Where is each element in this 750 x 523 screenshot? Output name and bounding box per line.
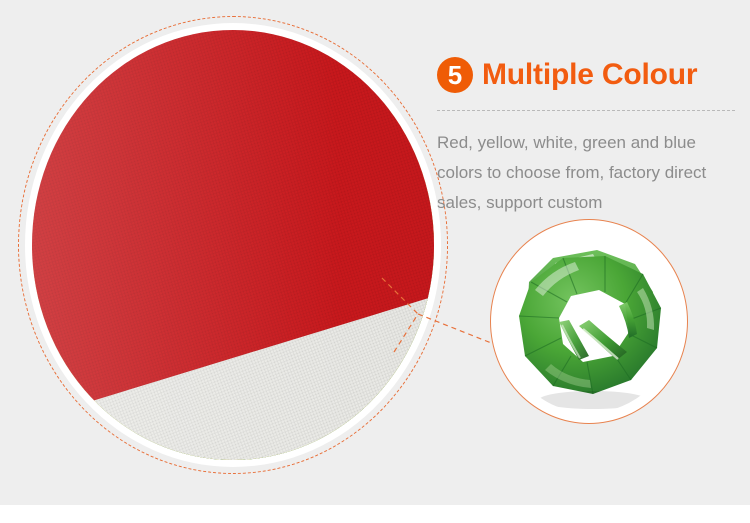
bottom-white-strip (0, 505, 750, 523)
main-product-photo (18, 16, 448, 474)
tarpaulin-sheets-photo (32, 30, 434, 460)
page-title: Multiple Colour (482, 58, 697, 92)
green-inflatable-roller-photo (501, 230, 677, 413)
feature-banner: 5 Multiple Colour Red, yellow, white, gr… (0, 0, 750, 523)
headline-row: 5 Multiple Colour (437, 52, 737, 98)
step-number-badge: 5 (437, 57, 473, 93)
info-panel: 5 Multiple Colour Red, yellow, white, gr… (437, 52, 737, 218)
inflatable-roller-illustration (501, 230, 677, 413)
callout-product-photo (490, 219, 688, 424)
title-divider (437, 110, 735, 111)
feature-description: Red, yellow, white, green and blue color… (437, 128, 729, 218)
